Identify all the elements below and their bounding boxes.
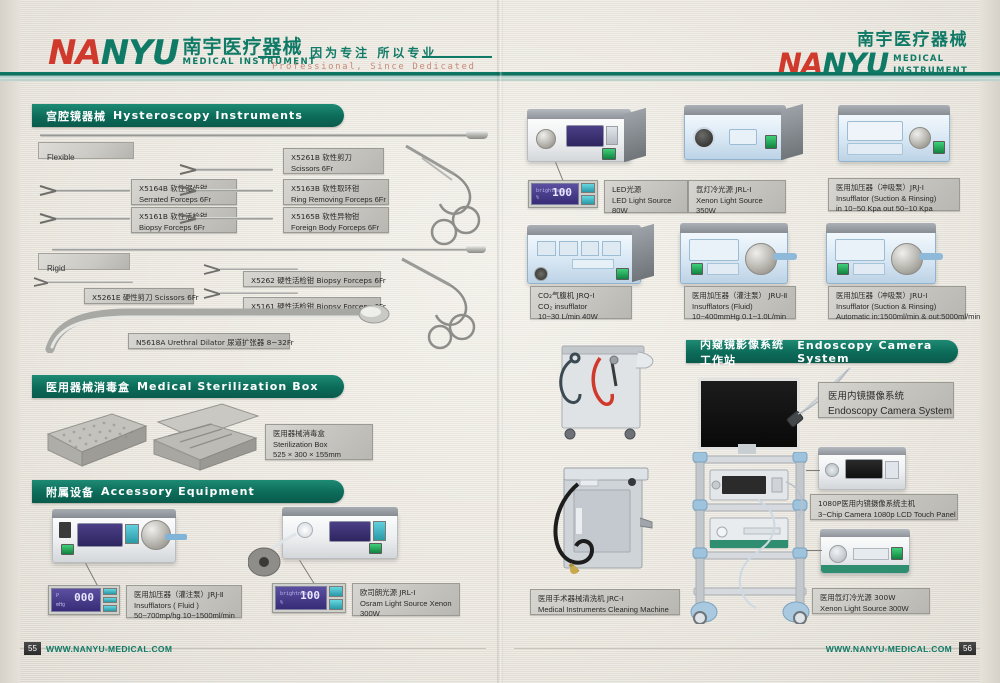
caption-x5163b: X5163B 软性取环钳 Ring Removing Forceps 6Fr xyxy=(283,179,389,205)
xenon-light-port xyxy=(693,127,715,149)
rigid-hysteroscope-shaft xyxy=(52,248,472,251)
foreign-body-forceps-tip-icon xyxy=(178,211,200,225)
led-side-panel xyxy=(624,108,646,162)
caption-suction-jru1: 医用加压器（冲吸泵）JRU-Ⅰ Insufflator (Suction & R… xyxy=(828,286,966,319)
page-number-left: 55 xyxy=(24,642,41,655)
jru1-display xyxy=(835,239,885,261)
accessory-banner-en: Accessory Equipment xyxy=(101,485,255,498)
device-top-panel xyxy=(52,509,176,518)
xenon-side-panel xyxy=(781,104,803,160)
caption-x5261e-text: X5261E 硬性剪刀 Scissors 6Fr xyxy=(92,293,186,304)
instrument-shaft-x5161 xyxy=(220,292,298,294)
caption-jru2-cn: 医用加压器（灌注泵） JRU-Ⅱ xyxy=(692,291,788,302)
cleaning-machine-image xyxy=(540,458,666,586)
instrument-shaft-serrated xyxy=(55,189,130,192)
sterilization-box-closed-image xyxy=(42,408,152,470)
device-tube-connector xyxy=(165,534,187,540)
rigid-forceps-tip-icon-1 xyxy=(202,262,224,276)
sterilization-banner-en: Medical Sterilization Box xyxy=(137,380,319,393)
page-number-right: 56 xyxy=(959,642,976,655)
jru2-tube xyxy=(773,253,797,260)
caption-x5165b: X5165B 软性异物钳 Foreign Body Forceps 6Fr xyxy=(283,207,389,233)
group-label-rigid: Rigid xyxy=(38,253,130,270)
caption-x5262-text: X5262 硬性活检钳 Biopsy Forceps 6Fr xyxy=(251,276,373,287)
lcd-keys[interactable] xyxy=(103,588,117,612)
section-banner-en: Hysteroscopy Instruments xyxy=(113,109,303,122)
camera-host-top xyxy=(818,447,906,455)
xenon300-light-port xyxy=(829,545,847,563)
caption-cleaning-cn: 医用手术器械清洗机 JRC-Ⅰ xyxy=(538,594,672,605)
lcd-unit-osram: % xyxy=(280,600,283,606)
caption-led-en: LED Light Source xyxy=(612,196,680,207)
leader-line-xenon300 xyxy=(806,550,822,551)
caption-x5165b-en: Foreign Body Forceps 6Fr xyxy=(291,223,381,234)
co2-button-row[interactable] xyxy=(572,259,614,269)
section-banner-cn: 宫腔镜器械 xyxy=(46,108,106,124)
device-screen xyxy=(77,523,123,547)
caption-led-cn: LED光源 xyxy=(612,185,680,196)
group-label-flexible-text: Flexible xyxy=(47,153,75,162)
light-source-power-button[interactable] xyxy=(369,543,382,554)
caption-camera-host-en: 3~Chip Camera 1080p LCD Touch Panel xyxy=(818,510,950,521)
caption-xenon300w-cn: 医用氙灯冷光源 300W xyxy=(820,593,922,604)
caption-insufflator-cn: 医用加压器（灌注泵）JRJ-Ⅱ xyxy=(134,590,234,601)
slogan-block: 因为专注 所以专业 Professional, Since Dedicated xyxy=(272,44,476,72)
fiber-optic-cable-illustration xyxy=(248,530,308,578)
light-source-screen xyxy=(329,521,371,542)
caption-insufflator-fluid: 医用加压器（灌注泵）JRJ-Ⅱ Insufflators ( Fluid ) 5… xyxy=(126,585,242,618)
caption-insufflator-jru2: 医用加压器（灌注泵） JRU-Ⅱ Insufflators (Fluid) 10… xyxy=(684,286,796,319)
caption-xenon350-spec: 350W xyxy=(696,206,778,217)
instrument-shaft-biopsy-flex xyxy=(55,217,130,220)
caption-n5618a-text: N5618A Urethral Dilator 尿道扩张器 8~32Fr xyxy=(136,338,282,349)
suction-knob[interactable] xyxy=(909,127,931,149)
catalog-page: NANYU 南宇医疗器械 MEDICAL INSTRUMENT 因为专注 所以专… xyxy=(0,0,1000,683)
device-co2-insufflator-image xyxy=(527,232,641,284)
caption-n5618a: N5618A Urethral Dilator 尿道扩张器 8~32Fr xyxy=(128,333,290,349)
jru2-display xyxy=(689,239,739,261)
endoscopy-monitor xyxy=(698,378,800,450)
caption-suction-rinsing: 医用加压器（冲吸泵）JRJ-Ⅰ Insufflator (Suction & R… xyxy=(828,178,960,211)
co2-side-panel xyxy=(632,224,654,282)
device-keypad xyxy=(125,524,139,544)
xenon300-power-button[interactable] xyxy=(891,547,903,560)
footer-url-right[interactable]: WWW.NANYU-MEDICAL.COM xyxy=(826,642,952,655)
led-screen xyxy=(566,125,604,147)
rigid-forceps-handle-illustration xyxy=(392,140,492,250)
lcd-detail-led: brightness 100 % xyxy=(528,180,598,208)
caption-co2-en: CO₂ insufflator xyxy=(538,302,624,313)
section-banner-accessory: 附属设备 Accessory Equipment xyxy=(32,480,344,503)
accessory-banner-cn: 附属设备 xyxy=(46,484,94,500)
rigid-hysteroscope-handle xyxy=(466,245,486,253)
co2-display-row xyxy=(537,241,621,256)
device-led-light-source-image xyxy=(527,116,631,162)
biopsy-forceps-tip-icon xyxy=(38,211,60,225)
lcd-screen-osram: brightness 100 % xyxy=(275,586,327,610)
caption-led-spec: 80W xyxy=(612,206,680,217)
caption-co2-cn: CO₂气腹机 JRQ-Ⅰ xyxy=(538,291,624,302)
jru1-power-button[interactable] xyxy=(837,263,849,275)
xenon-power-button[interactable] xyxy=(765,135,777,149)
caption-suction-spec: in 10~50 Kpa out 50~10 Kpa xyxy=(836,204,952,215)
jru2-top-panel xyxy=(680,223,788,233)
caption-x5261b-cn: X5261B 软性剪刀 xyxy=(291,153,376,164)
co2-power-button[interactable] xyxy=(616,268,629,280)
device-left-port xyxy=(59,522,71,538)
xenon-top-panel xyxy=(684,105,786,115)
caption-camera-system-en: Endoscopy Camera System xyxy=(828,405,944,419)
instrument-shaft-ring xyxy=(195,189,273,192)
instrument-cleaning-cart-image xyxy=(542,342,662,448)
caption-x5163b-cn: X5163B 软性取环钳 xyxy=(291,184,381,195)
lcd-value: 000 xyxy=(74,591,94,604)
caption-x5261b-en: Scissors 6Fr xyxy=(291,164,376,175)
flexible-hysteroscope-shaft xyxy=(40,133,475,137)
leader-line-camera-host xyxy=(806,470,820,471)
rigid-forceps-handle-illustration-2 xyxy=(392,255,492,350)
caption-x5163b-en: Ring Removing Forceps 6Fr xyxy=(291,195,381,206)
caption-osram-cn: 欧司朗光源 JRL-Ⅰ xyxy=(360,588,452,599)
camera-host-port xyxy=(825,463,839,477)
led-rotary-knob[interactable] xyxy=(536,129,556,149)
lcd-detail-insufflator: P 000 mHg xyxy=(48,585,120,615)
lcd-value-osram: 100 xyxy=(300,589,320,602)
caption-x5261e: X5261E 硬性剪刀 Scissors 6Fr xyxy=(84,288,194,304)
lcd-detail-osram: brightness 100 % xyxy=(272,583,346,613)
slogan-en: Professional, Since Dedicated xyxy=(272,62,476,72)
co2-gas-port xyxy=(534,267,548,281)
led-top-panel xyxy=(527,109,631,119)
jru2-pump-head[interactable] xyxy=(745,243,777,275)
device-insufflator-jru2-image xyxy=(680,230,788,284)
caption-camera-system-cn: 医用内镜摄像系统 xyxy=(828,390,944,403)
jru2-power-button[interactable] xyxy=(691,263,703,275)
lcd-unit-led: % xyxy=(536,195,539,201)
caption-xenon300w-en: Xenon Light Source 300W xyxy=(820,604,922,615)
lcd-value-led: 100 xyxy=(552,186,572,199)
caption-osram-en: Osram Light Source Xenon xyxy=(360,599,452,610)
caption-x5165b-cn: X5165B 软性异物钳 xyxy=(291,212,381,223)
xenon300-green-stripe xyxy=(821,565,909,573)
forceps-tip-icon xyxy=(38,183,60,197)
caption-insufflator-en: Insufflators ( Fluid ) xyxy=(134,601,234,612)
device-insufflator-fluid-image xyxy=(52,515,176,563)
xenon300-top xyxy=(820,529,910,537)
caption-endoscopy-camera-system: 医用内镜摄像系统 Endoscopy Camera System xyxy=(818,382,954,418)
sterilization-banner-cn: 医用器械消毒盒 xyxy=(46,379,130,395)
brand-wordmark: NANYU xyxy=(48,36,178,70)
group-label-flexible: Flexible xyxy=(38,142,134,159)
caption-sterilization-en: Sterilization Box xyxy=(273,440,365,451)
ring-forceps-tip-icon xyxy=(178,183,200,197)
instrument-shaft-x5261e xyxy=(48,281,133,283)
lcd-screen: P 000 mHg xyxy=(51,588,101,612)
right-frame-edge xyxy=(980,0,1000,683)
jru1-pump-head[interactable] xyxy=(891,243,923,275)
left-frame-edge xyxy=(0,0,20,683)
led-power-button[interactable] xyxy=(602,148,616,160)
caption-insufflator-spec: 50~700mp/hg 10~1500ml/min xyxy=(134,611,234,622)
header-dash-right xyxy=(422,56,492,58)
caption-jru1-cn: 医用加压器（冲吸泵）JRU-Ⅰ xyxy=(836,291,958,302)
lcd-label: P xyxy=(56,593,59,599)
suction-power-button[interactable] xyxy=(933,141,945,154)
sterilization-box-open-image xyxy=(150,402,262,474)
device-camera-host-image xyxy=(818,452,906,490)
jru2-button-row[interactable] xyxy=(707,263,739,275)
light-source-top-panel xyxy=(282,507,398,516)
device-xenon-350-image xyxy=(684,112,786,160)
device-power-button[interactable] xyxy=(61,544,74,555)
caption-sterilization-size: 525 × 300 × 155mm xyxy=(273,450,365,461)
caption-xenon-300: 医用氙灯冷光源 300W Xenon Light Source 300W xyxy=(812,588,930,614)
lcd-keys-led[interactable] xyxy=(581,183,595,205)
caption-jru1-spec: Automatic in:1500ml/min & out:5000ml/min xyxy=(836,312,958,323)
camera-host-keys[interactable] xyxy=(885,461,899,479)
device-xenon-300-image xyxy=(820,534,910,574)
hysteroscope-handle xyxy=(466,130,488,139)
caption-cleaning-en: Medical Instruments Cleaning Machine xyxy=(538,605,672,616)
caption-osram-spec: 300W xyxy=(360,609,452,620)
jru1-top-panel xyxy=(826,223,936,233)
caption-jru1-en: Insufflator (Suction & Rinsing) xyxy=(836,302,958,313)
caption-osram-light: 欧司朗光源 JRL-Ⅰ Osram Light Source Xenon 300… xyxy=(352,583,460,616)
jru1-button-row[interactable] xyxy=(853,263,885,275)
instrument-shaft-x5262 xyxy=(220,268,298,270)
caption-xenon-350: 氙灯冷光源 JRL-Ⅰ Xenon Light Source 350W xyxy=(688,180,786,213)
device-suction-rinsing-image xyxy=(838,112,950,162)
caption-camera-host: 1080P医用内镜摄像系统主机 3~Chip Camera 1080p LCD … xyxy=(810,494,958,520)
endoscopy-trolley-image xyxy=(686,452,816,624)
caption-jru2-spec: 10~400mmHg 0.1~1.0L/min xyxy=(692,312,788,323)
device-suction-jru1-image xyxy=(826,230,936,284)
caption-suction-cn: 医用加压器（冲吸泵）JRJ-Ⅰ xyxy=(836,183,952,194)
suction-control-row[interactable] xyxy=(847,143,903,155)
caption-sterilization-cn: 医用器械消毒盒 xyxy=(273,429,365,440)
lcd-screen-led: brightness 100 % xyxy=(531,183,579,205)
page-footer: 55 WWW.NANYU-MEDICAL.COM WWW.NANYU-MEDIC… xyxy=(0,640,1000,683)
endoscopy-banner-cn: 内窥镜影像系统工作站 xyxy=(700,336,790,368)
co2-top-panel xyxy=(527,225,641,235)
caption-xenon350-cn: 氙灯冷光源 JRL-Ⅰ xyxy=(696,185,778,196)
page-gutter xyxy=(497,0,503,683)
caption-led-light-source: LED光源 LED Light Source 80W xyxy=(604,180,688,213)
caption-co2-insufflator: CO₂气腹机 JRQ-Ⅰ CO₂ insufflator 10~30 L/min… xyxy=(530,286,632,319)
jru1-tube xyxy=(919,253,943,260)
caption-camera-host-cn: 1080P医用内镜摄像系统主机 xyxy=(818,499,950,510)
footer-url-left[interactable]: WWW.NANYU-MEDICAL.COM xyxy=(46,642,172,655)
lcd-unit: mHg xyxy=(56,602,65,608)
rigid-scissors-tip-icon xyxy=(32,276,52,288)
caption-jru2-en: Insufflators (Fluid) xyxy=(692,302,788,313)
instrument-shaft-scissors xyxy=(195,168,273,171)
suction-display-panel xyxy=(847,121,903,141)
light-source-keypad[interactable] xyxy=(373,521,386,541)
xenon-button-panel[interactable] xyxy=(729,129,757,145)
rigid-forceps-tip-icon-2 xyxy=(202,286,224,300)
lcd-keys-osram[interactable] xyxy=(329,586,343,610)
slogan-cn: 因为专注 所以专业 xyxy=(272,44,476,61)
caption-co2-spec: 10~30 L/min 40W xyxy=(538,312,624,323)
caption-x5261b: X5261B 软性剪刀 Scissors 6Fr xyxy=(283,148,384,174)
caption-suction-en: Insufflator (Suction & Rinsing) xyxy=(836,194,952,205)
camera-host-screen xyxy=(845,459,883,479)
caption-cleaning-machine: 医用手术器械清洗机 JRC-Ⅰ Medical Instruments Clea… xyxy=(530,589,680,615)
section-banner-sterilization: 医用器械消毒盒 Medical Sterilization Box xyxy=(32,375,344,398)
group-label-rigid-text: Rigid xyxy=(47,264,65,273)
caption-sterilization-box: 医用器械消毒盒 Sterilization Box 525 × 300 × 15… xyxy=(265,424,373,460)
caption-x5262: X5262 硬性活检钳 Biopsy Forceps 6Fr xyxy=(243,271,381,287)
scissors-tip-icon xyxy=(178,162,200,176)
instrument-shaft-foreign-body xyxy=(195,217,273,220)
xenon300-panel[interactable] xyxy=(853,548,889,560)
brand-sub-right-1: MEDICAL xyxy=(893,54,968,65)
caption-xenon350-en: Xenon Light Source xyxy=(696,196,778,207)
led-keypad[interactable] xyxy=(606,126,618,145)
suction-top-panel xyxy=(838,105,950,115)
section-banner-hysteroscopy: 宫腔镜器械 Hysteroscopy Instruments xyxy=(32,104,344,127)
